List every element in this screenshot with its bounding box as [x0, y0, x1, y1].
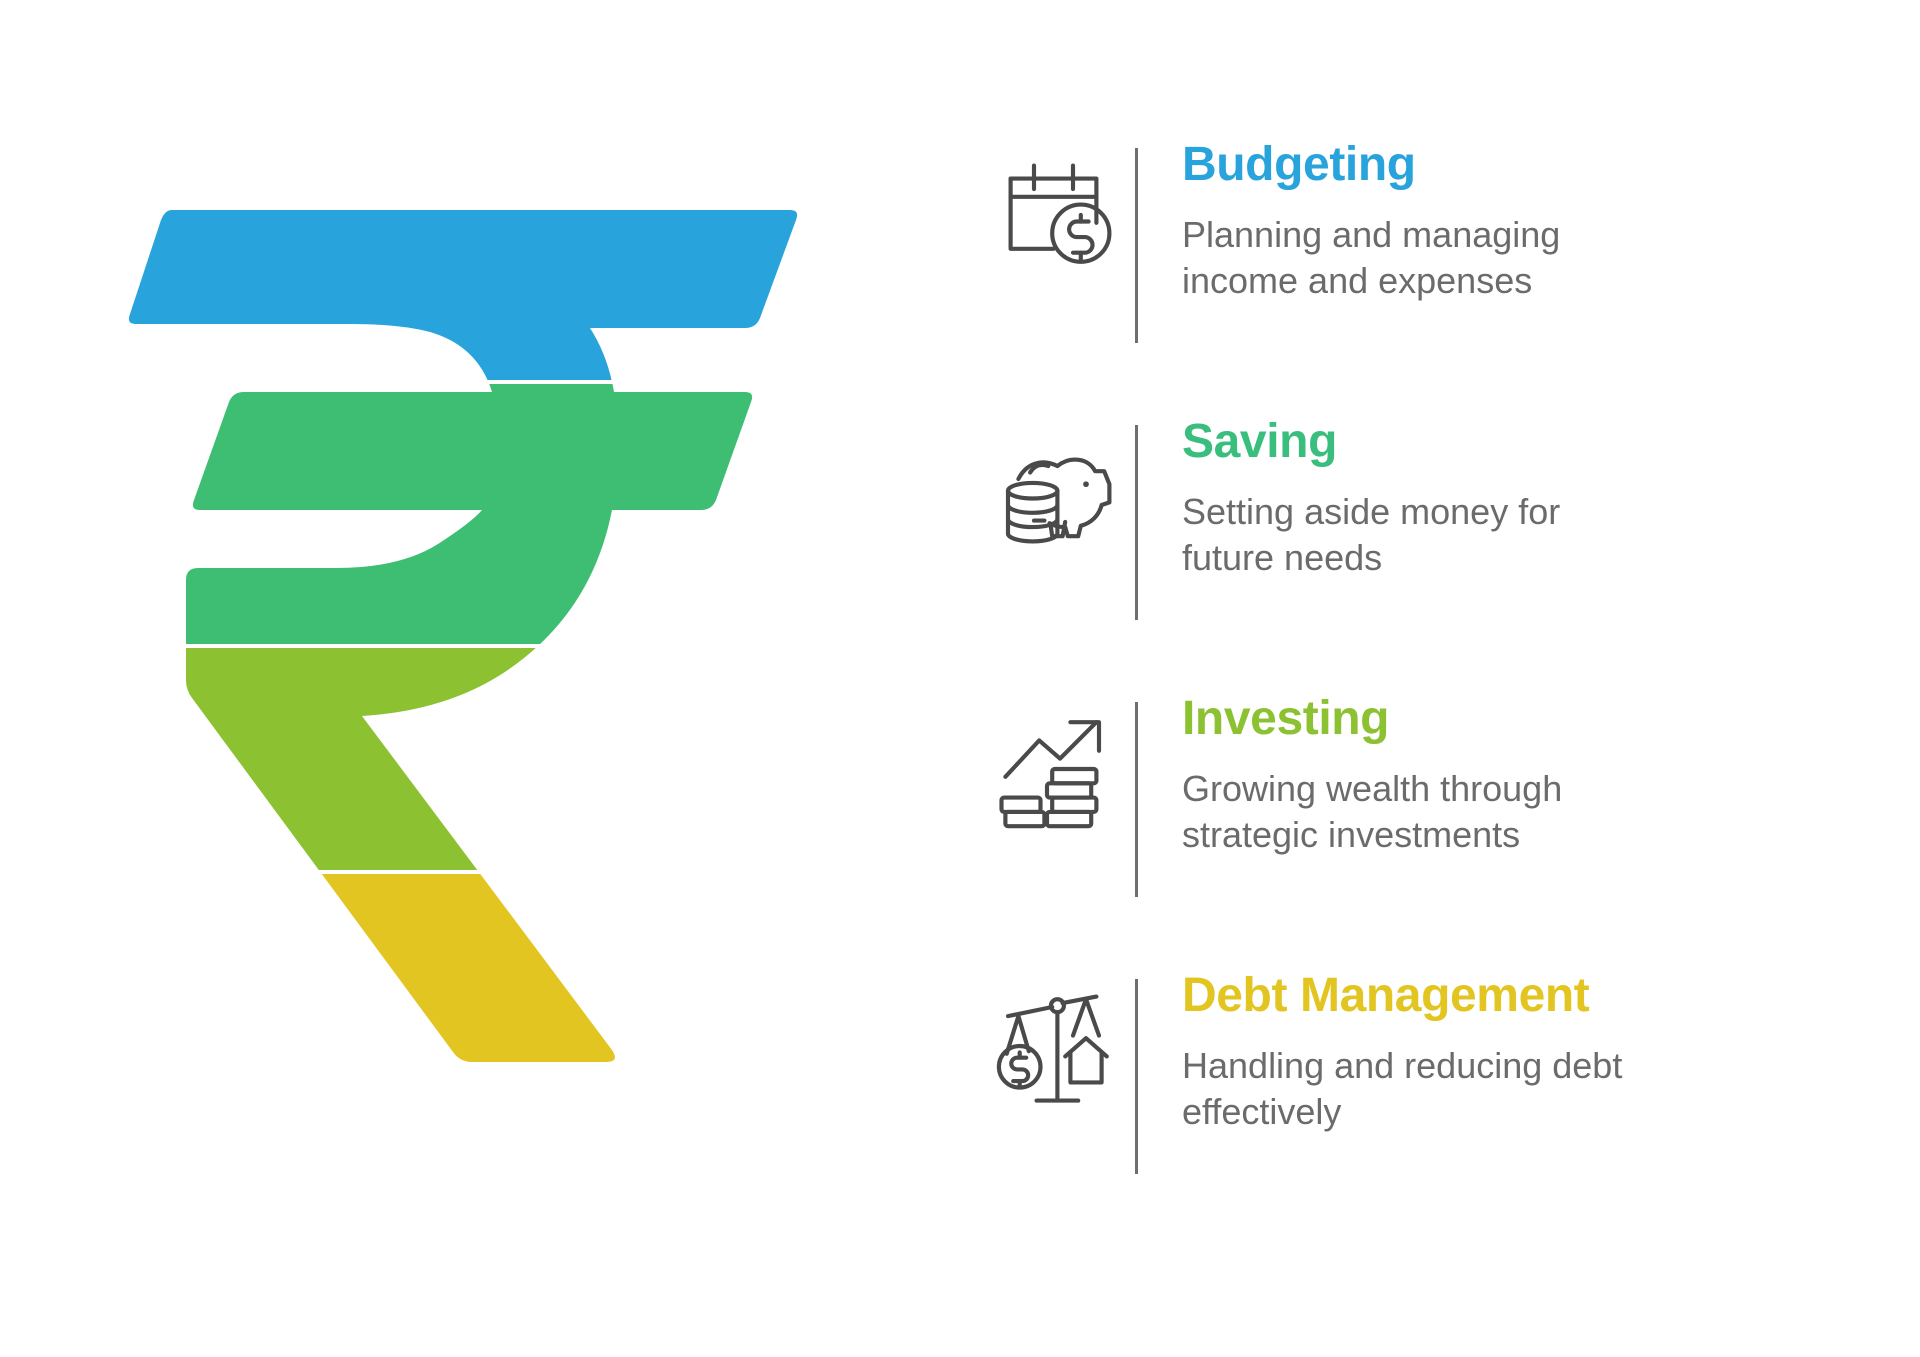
piggy-bank-coins-icon	[985, 417, 1135, 557]
desc-line-2: strategic investments	[1182, 814, 1520, 855]
desc-line-1: Growing wealth through	[1182, 768, 1562, 809]
item-text-block: Investing Growing wealth through strateg…	[1138, 694, 1865, 858]
item-title-debt-management: Debt Management	[1182, 971, 1865, 1021]
rupee-symbol-graphic	[100, 150, 860, 1200]
list-item-debt-management[interactable]: Debt Management Handling and reducing de…	[985, 971, 1865, 1188]
desc-line-2: income and expenses	[1182, 260, 1532, 301]
rupee-color-bands	[100, 150, 860, 1200]
list-item-saving[interactable]: Saving Setting aside money for future ne…	[985, 417, 1865, 634]
rupee-band-budgeting	[100, 150, 860, 380]
item-title-saving: Saving	[1182, 417, 1865, 467]
item-text-block: Debt Management Handling and reducing de…	[1138, 971, 1865, 1135]
infographic-canvas: Budgeting Planning and managing income a…	[0, 0, 1920, 1357]
desc-line-2: future needs	[1182, 537, 1382, 578]
rupee-band-investing	[100, 648, 860, 870]
rupee-band-debt-management	[100, 874, 860, 1200]
item-text-block: Saving Setting aside money for future ne…	[1138, 417, 1865, 581]
calendar-dollar-icon	[985, 140, 1135, 280]
item-description-investing: Growing wealth through strategic investm…	[1182, 766, 1712, 857]
balance-scale-debt-icon	[985, 971, 1135, 1111]
item-text-block: Budgeting Planning and managing income a…	[1138, 140, 1865, 304]
item-title-investing: Investing	[1182, 694, 1865, 744]
rupee-band-saving	[100, 384, 860, 644]
growth-chart-coins-icon	[985, 694, 1135, 834]
desc-line-1: Planning and managing	[1182, 214, 1560, 255]
item-description-debt-management: Handling and reducing debt effectively	[1182, 1043, 1712, 1134]
list-item-investing[interactable]: Investing Growing wealth through strateg…	[985, 694, 1865, 911]
desc-line-1: Handling and reducing debt	[1182, 1045, 1622, 1086]
list-item-budgeting[interactable]: Budgeting Planning and managing income a…	[985, 140, 1865, 357]
desc-line-2: effectively	[1182, 1091, 1341, 1132]
concept-list: Budgeting Planning and managing income a…	[985, 140, 1865, 1188]
item-description-budgeting: Planning and managing income and expense…	[1182, 212, 1712, 303]
desc-line-1: Setting aside money for	[1182, 491, 1560, 532]
item-description-saving: Setting aside money for future needs	[1182, 489, 1712, 580]
item-title-budgeting: Budgeting	[1182, 140, 1865, 190]
